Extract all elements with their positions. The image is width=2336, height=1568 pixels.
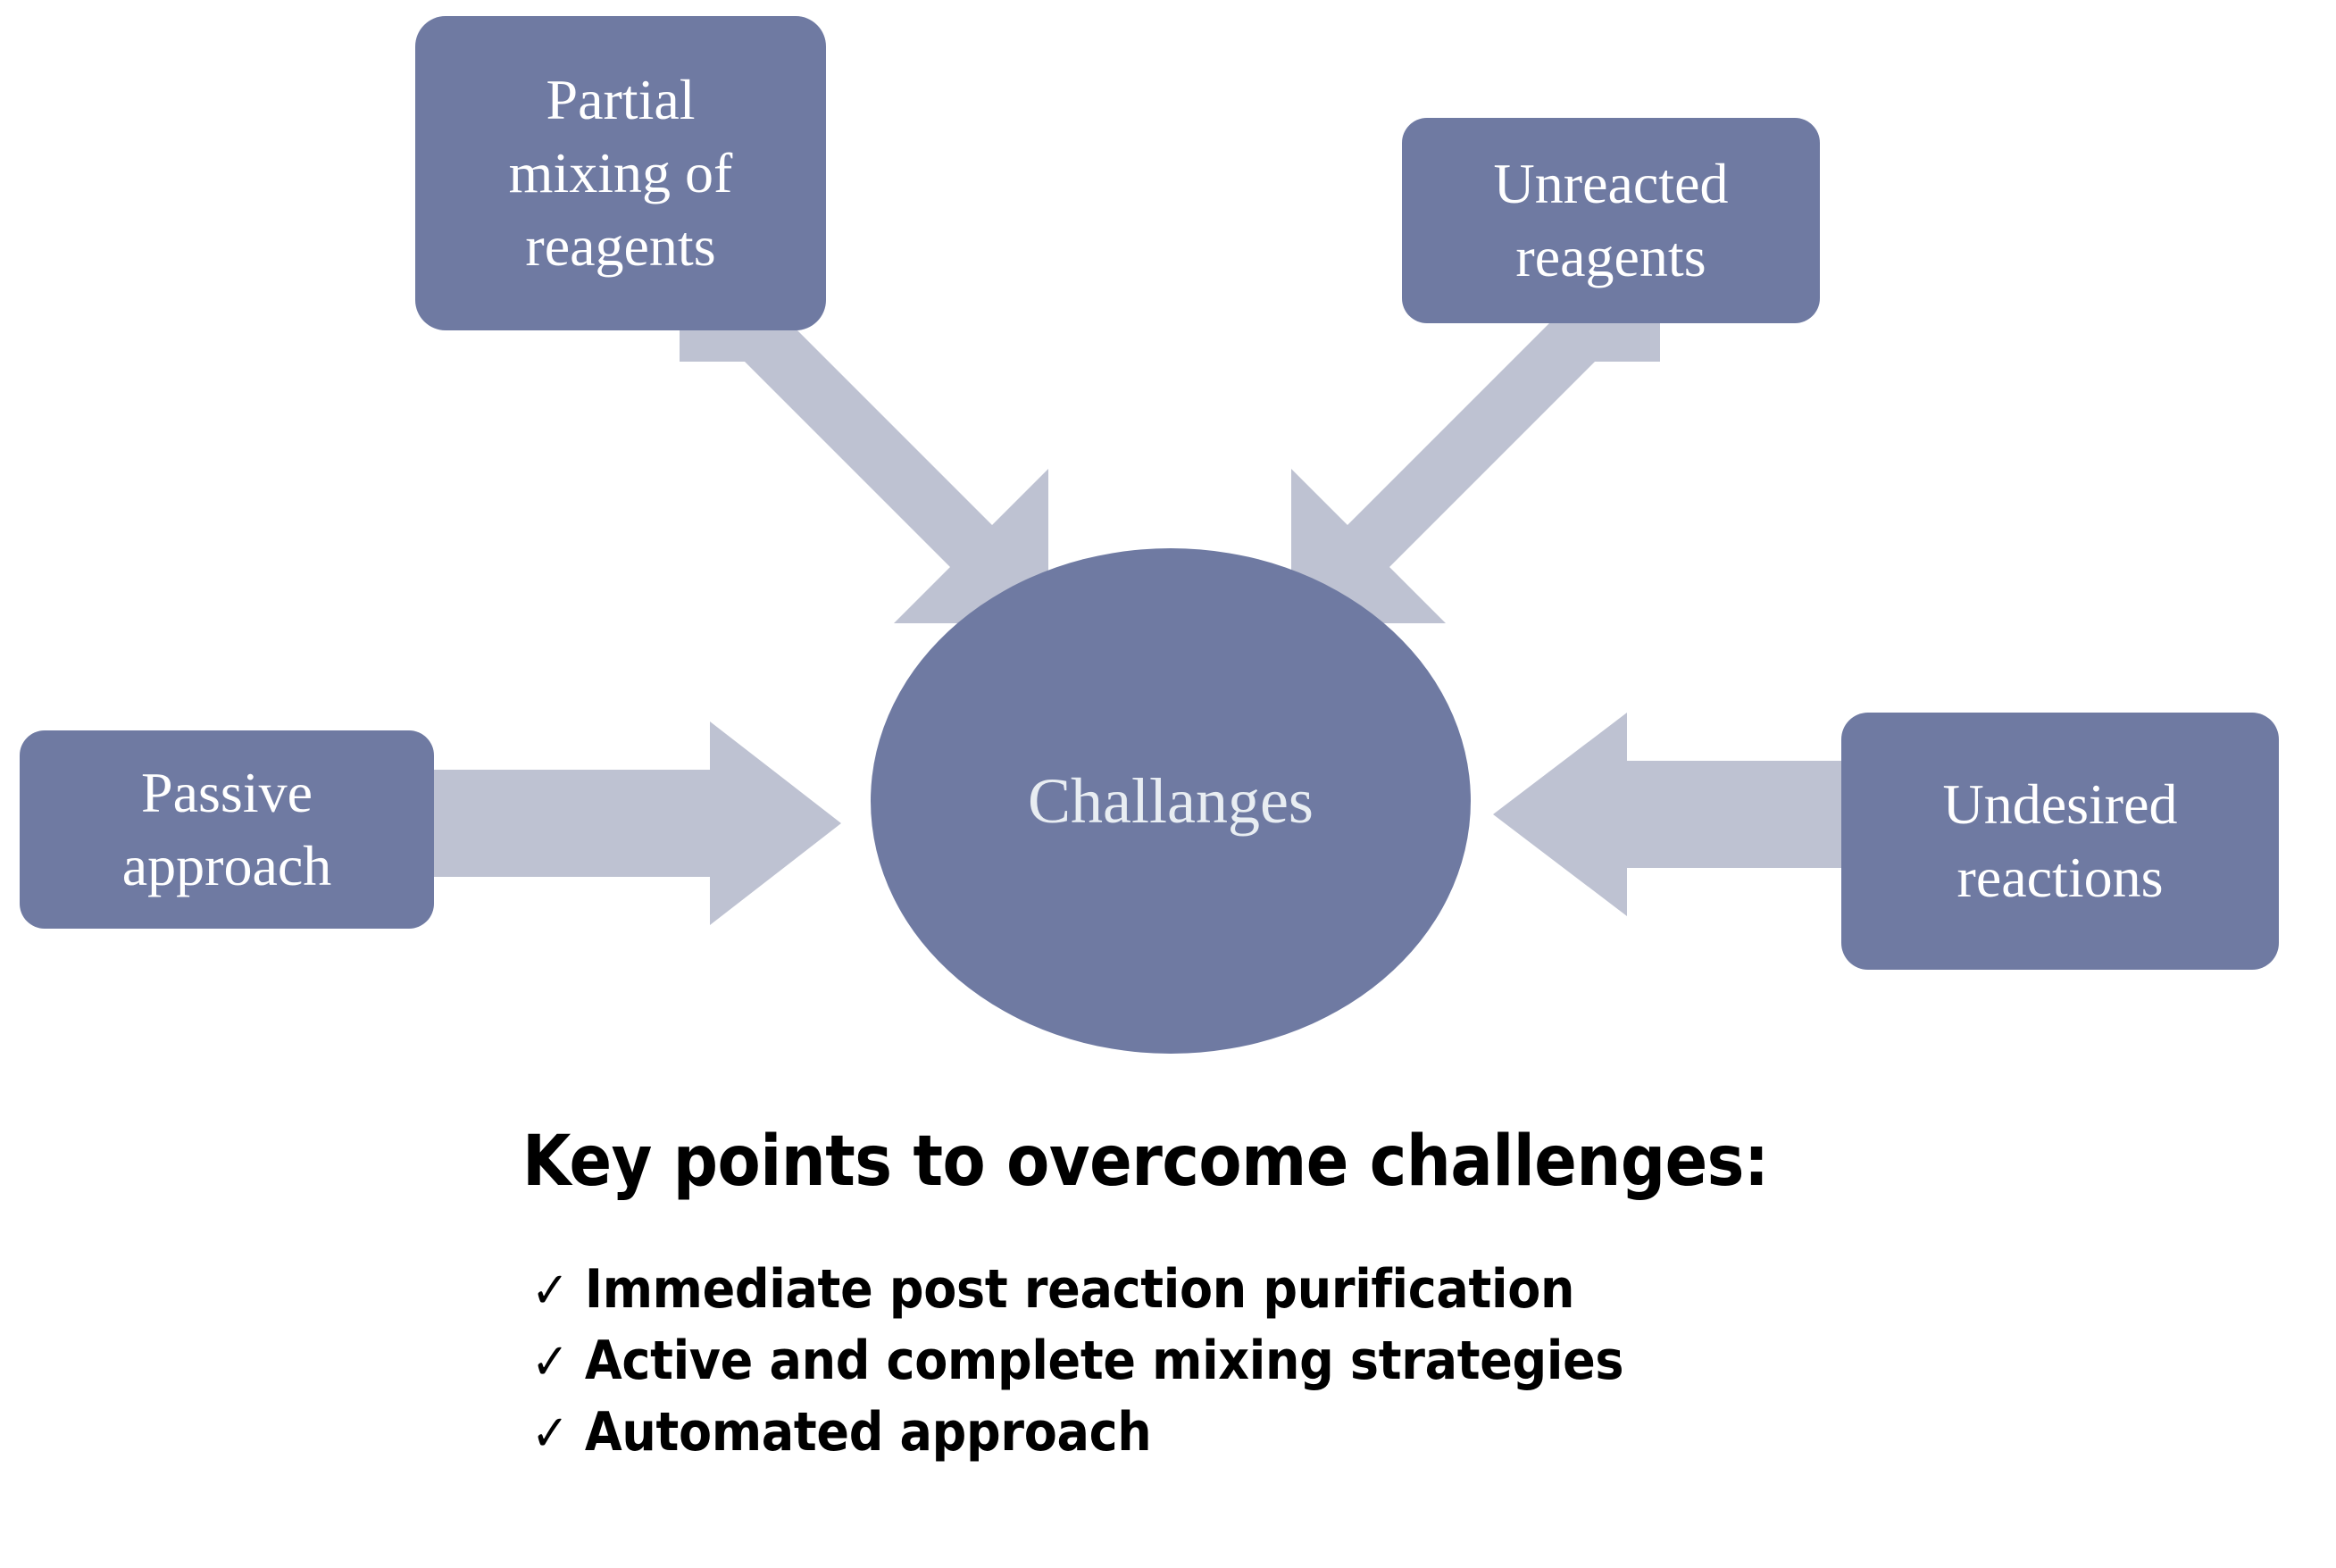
list-item-label: Automated approach xyxy=(585,1397,1152,1469)
check-icon: ✓ xyxy=(531,1266,569,1316)
arrow-top-right xyxy=(1291,320,1660,623)
list-item-label: Immediate post reaction purification xyxy=(585,1255,1574,1326)
diagram-canvas: Partial mixing of reagents Unreacted rea… xyxy=(0,0,2336,1568)
arrow-top-left xyxy=(680,320,1048,623)
node-box-passive-approach[interactable] xyxy=(20,730,434,929)
arrow-right xyxy=(1493,713,1847,916)
list-item: ✓ Automated approach xyxy=(531,1397,2336,1469)
list-item: ✓ Immediate post reaction purification xyxy=(531,1255,2336,1326)
check-icon: ✓ xyxy=(531,1338,569,1388)
key-points-heading: Key points to overcome challenges: xyxy=(0,1121,2336,1203)
key-points-section: Key points to overcome challenges: ✓ Imm… xyxy=(0,1121,2336,1468)
node-box-undesired-reactions[interactable] xyxy=(1841,713,2279,970)
list-item: ✓ Active and complete mixing strategies xyxy=(531,1326,2336,1397)
check-icon: ✓ xyxy=(531,1409,569,1459)
key-points-list: ✓ Immediate post reaction purification ✓… xyxy=(0,1255,2336,1468)
list-item-label: Active and complete mixing strategies xyxy=(585,1326,1623,1397)
node-box-partial-mixing[interactable] xyxy=(415,16,826,330)
challenges-ellipse[interactable] xyxy=(871,548,1471,1054)
arrow-left xyxy=(431,721,841,925)
node-box-unreacted-reagents[interactable] xyxy=(1402,118,1820,323)
